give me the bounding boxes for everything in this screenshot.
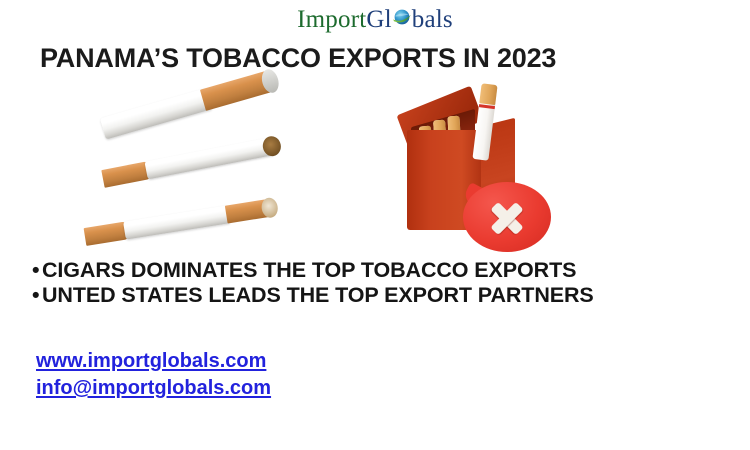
email-link[interactable]: info@importglobals.com — [36, 375, 271, 402]
artwork-region — [0, 80, 750, 255]
list-item: •CIGARS DOMINATES THE TOP TOBACCO EXPORT… — [32, 258, 732, 283]
cigarette-3 — [84, 197, 284, 246]
contact-block: www.importglobals.com info@importglobals… — [36, 348, 271, 402]
brand-logo[interactable]: ImportGl bals — [0, 4, 750, 36]
highlights-list: •CIGARS DOMINATES THE TOP TOBACCO EXPORT… — [32, 258, 732, 308]
cigarette-1 — [100, 69, 279, 140]
list-item-label: UNTED STATES LEADS THE TOP EXPORT PARTNE… — [42, 283, 594, 307]
close-icon — [489, 200, 525, 236]
cigarettes-illustration — [85, 80, 345, 250]
list-item: •UNTED STATES LEADS THE TOP EXPORT PARTN… — [32, 283, 732, 308]
list-item-label: CIGARS DOMINATES THE TOP TOBACCO EXPORTS — [42, 258, 576, 282]
cigarette-pack-illustration — [385, 82, 560, 252]
page-title: PANAMA’S TOBACCO EXPORTS IN 2023 — [40, 43, 556, 74]
cigarette-2 — [101, 135, 286, 188]
logo-text-import: Import — [297, 6, 366, 33]
logo-text-bals: bals — [412, 6, 453, 33]
bullet-marker: • — [32, 258, 42, 283]
globe-icon — [392, 7, 412, 27]
bullet-marker: • — [32, 283, 42, 308]
website-link[interactable]: www.importglobals.com — [36, 348, 266, 375]
prohibition-badge — [463, 182, 551, 254]
logo-text-gl: Gl — [366, 6, 391, 33]
